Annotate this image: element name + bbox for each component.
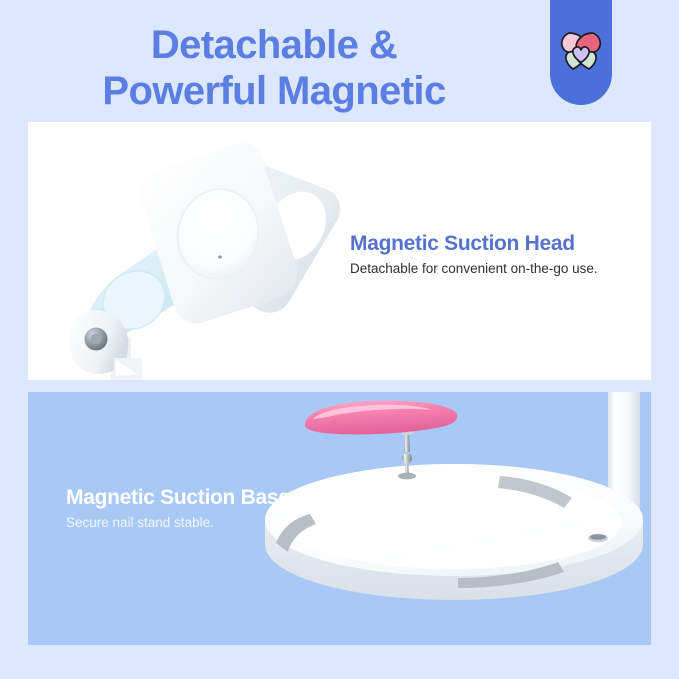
brand-badge <box>550 0 612 105</box>
magnetic-suction-head-illustration <box>28 122 368 380</box>
base-subtitle: Secure nail stand stable. <box>66 515 290 530</box>
page-title-line-1: Detachable & <box>0 22 548 68</box>
base-side-button <box>588 534 608 542</box>
panel-magnetic-suction-head: Magnetic Suction Head Detachable for con… <box>28 122 651 380</box>
flower-heart-logo-icon <box>558 26 604 70</box>
base-title: Magnetic Suction Base <box>66 486 290 510</box>
caption-magnetic-suction-base: Magnetic Suction Base Secure nail stand … <box>66 486 290 530</box>
infographic-root: Detachable & Powerful Magnetic <box>0 0 679 679</box>
page-title-line-2: Powerful Magnetic <box>0 68 548 114</box>
magnetic-suction-base-illustration <box>258 392 651 645</box>
magnet-center-dot <box>218 255 222 258</box>
suction-base-disc <box>265 464 643 600</box>
pink-nail-tip <box>305 400 457 434</box>
head-title: Magnetic Suction Head <box>350 232 598 256</box>
page-title: Detachable & Powerful Magnetic <box>0 22 548 114</box>
panel-magnetic-suction-base: Magnetic Suction Base Secure nail stand … <box>28 392 651 645</box>
head-subtitle: Detachable for convenient on-the-go use. <box>350 261 598 276</box>
caption-magnetic-suction-head: Magnetic Suction Head Detachable for con… <box>350 232 598 276</box>
